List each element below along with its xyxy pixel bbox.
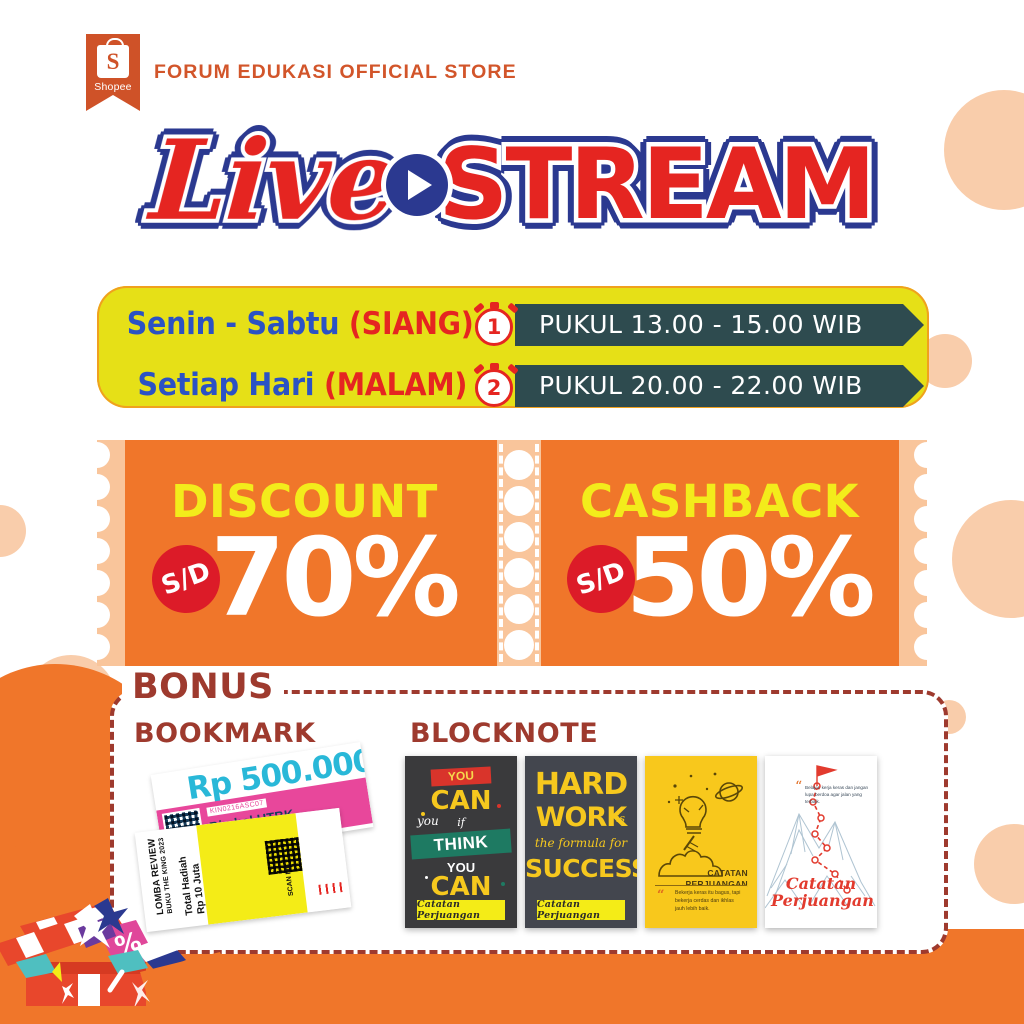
stopwatch-ear-right: [507, 363, 519, 374]
blocknote-title-line1: CATATAN: [707, 868, 748, 878]
play-button-icon: [386, 154, 448, 216]
store-header: S Shopee FORUM EDUKASI OFFICIAL STORE: [86, 34, 517, 110]
stopwatch-icon: 2: [473, 363, 519, 409]
coupon-amount-row: S/D 50%: [567, 530, 872, 627]
coupon-amount-row: S/D 70%: [152, 530, 457, 627]
blocknote-quote-text: Bekerja keras itu bagus, tapi bekerja ce…: [675, 890, 745, 913]
schedule-row: Setiap Hari (MALAM) 2 PUKUL 20.00 - 22.0…: [97, 355, 929, 416]
stopwatch-number: 2: [475, 369, 513, 407]
decor-circle-left-small: [0, 505, 26, 557]
blocknote-line: SUCCESS: [525, 856, 637, 881]
title-stream-word: STREAM: [438, 136, 873, 234]
coupon-discount: DISCOUNT S/D 70%: [97, 440, 512, 666]
schedule-row: Senin - Sabtu (SIANG) 1 PUKUL 13.00 - 15…: [97, 286, 929, 355]
bonus-label-blocknote: BLOCKNOTE: [410, 718, 598, 749]
page-title: Live STREAM: [0, 110, 1024, 260]
blocknote-line: if: [405, 816, 517, 829]
blocknote-you-can: YOU CAN you if THINK YOU CAN Catatan Per…: [405, 756, 517, 928]
bonus-heading: BONUS: [122, 668, 284, 707]
title-live-word: Live: [147, 126, 400, 236]
stopwatch-ear-right: [507, 302, 519, 313]
blocknote-line: is: [616, 812, 625, 825]
coupon-cashback: CASHBACK S/D 50%: [512, 440, 927, 666]
schedule-days: Senin - Sabtu (SIANG): [127, 309, 469, 340]
coupon-strip: DISCOUNT S/D 70% CASHBACK S/D 50%: [97, 440, 927, 666]
coupon-amount: 70%: [210, 530, 457, 627]
quote-mark-icon: “: [657, 889, 664, 902]
bonus-label-bookmark: BOOKMARK: [134, 718, 316, 749]
blocknote-script: Catatan Perjuangan: [771, 876, 871, 910]
gift-box-icon: %: [0, 776, 240, 1006]
store-name: FORUM EDUKASI OFFICIAL STORE: [154, 61, 517, 84]
shopee-bag-icon: S: [97, 45, 129, 78]
stopwatch-number: 1: [475, 308, 513, 346]
blocknote-tag: Catatan Perjuangan: [537, 900, 625, 920]
qr-code-icon: [265, 837, 303, 875]
shopee-badge-icon: S Shopee: [86, 34, 140, 110]
schedule-banner: Senin - Sabtu (SIANG) 1 PUKUL 13.00 - 15…: [97, 286, 929, 408]
coupon-amount: 50%: [625, 530, 872, 627]
schedule-period: (SIANG): [349, 306, 474, 342]
blocknote-line: CAN: [405, 788, 517, 814]
blocknote-samples: YOU CAN you if THINK YOU CAN Catatan Per…: [405, 756, 890, 928]
promo-poster: S Shopee FORUM EDUKASI OFFICIAL STORE Li…: [0, 0, 1024, 1024]
blocknote-line: THINK: [410, 829, 511, 860]
quote-mark-icon: “: [795, 780, 802, 794]
blocknote-lightbulb: CATATAN PERJUANGAN “ Bekerja keras itu b…: [645, 756, 757, 928]
schedule-days-text: Senin - Sabtu: [127, 306, 349, 342]
blocknote-mountain: “ Belajar, kerja keras dan jangan lupa b…: [765, 756, 877, 928]
blocknote-tag: Catatan Perjuangan: [417, 900, 505, 920]
blocknote-quote-text: Belajar, kerja keras dan jangan lupa ber…: [805, 784, 871, 805]
schedule-period: (MALAM): [324, 367, 467, 403]
stopwatch-icon: 1: [473, 302, 519, 348]
decor-circle-bottom-right: [974, 824, 1024, 904]
blocknote-quote: “ Bekerja keras itu bagus, tapi bekerja …: [655, 885, 747, 922]
decor-circle-right-large: [952, 500, 1024, 618]
coupon-edge-left: [97, 440, 125, 666]
schedule-time-ribbon: PUKUL 20.00 - 22.00 WIB: [515, 365, 903, 407]
schedule-time: PUKUL 20.00 - 22.00 WIB: [539, 371, 863, 400]
schedule-days-text: Setiap Hari: [137, 367, 323, 403]
shopee-wordmark: Shopee: [86, 81, 140, 93]
schedule-time-ribbon: PUKUL 13.00 - 15.00 WIB: [515, 304, 903, 346]
blocknote-line: the formula for: [525, 836, 637, 850]
blocknote-hard-work: HARD WORK is the formula for SUCCESS Cat…: [525, 756, 637, 928]
coupon-edge-right: [899, 440, 927, 666]
lightbulb-cloud-icon: [645, 756, 757, 886]
blocknote-line: YOU: [431, 766, 492, 786]
schedule-time: PUKUL 13.00 - 15.00 WIB: [539, 310, 863, 339]
shopee-letter: S: [97, 45, 129, 78]
schedule-days: Setiap Hari (MALAM): [127, 370, 469, 401]
coupon-perforation: [497, 440, 541, 666]
blocknote-line: CAN: [405, 874, 517, 900]
blocknote-line: HARD: [525, 770, 637, 800]
